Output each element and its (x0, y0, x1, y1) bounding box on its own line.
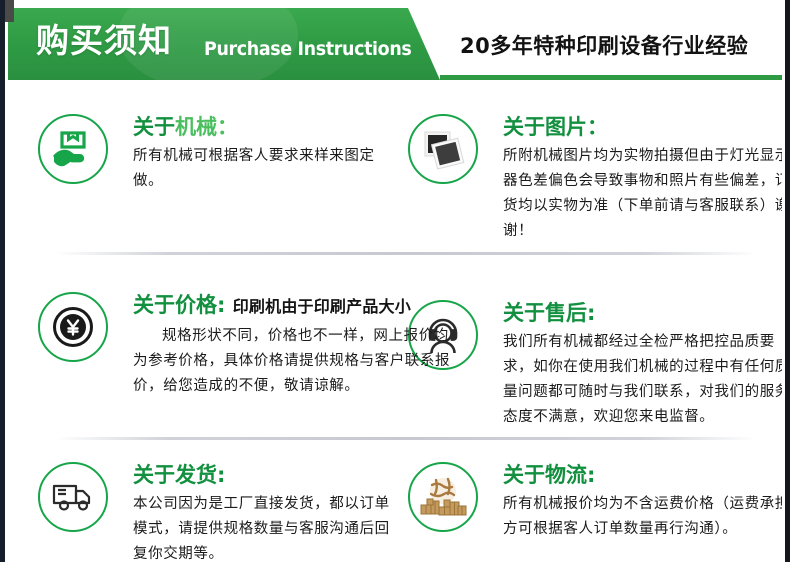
card-text: 所有机械报价均为不含运费价格（运费承担方可根据客人订单数量再行沟通）。 (503, 492, 790, 542)
card-body: 关于机械： 所有机械可根据客人要求来样来图定做。 (133, 114, 403, 194)
card-title: 关于发货: (133, 462, 403, 488)
card-body: 关于物流: 所有机械报价均为不含运费价格（运费承担方可根据客人订单数量再行沟通）… (503, 462, 790, 542)
card-text-value: 规格形状不同，价格也不一样，网上报价均为参考价格，具体价格请提供规格与客户联系报… (133, 328, 450, 394)
purchase-instructions-page: 购买须知 Purchase Instructions 20多年特种印刷设备行业经… (0, 0, 790, 562)
page-right-inner (782, 0, 785, 562)
card-text: 本公司因为是工厂直接发货，都以订单模式，请提供规格数量与客服沟通后回复你交期等。 (133, 492, 403, 562)
photos-icon (408, 114, 478, 184)
card-body: 关于价格: 印刷机由于印刷产品大小 规格形状不同，价格也不一样，网上报价均为参考… (133, 292, 453, 399)
card-title-prefix: 关于图片： (503, 115, 608, 139)
section-divider (56, 437, 756, 440)
page-left-inner (5, 0, 8, 562)
section-divider (56, 252, 756, 255)
card-text: 规格形状不同，价格也不一样，网上报价均为参考价格，具体价格请提供规格与客户联系报… (133, 324, 453, 399)
card-title: 关于图片： (503, 114, 790, 140)
card-title: 关于售后: (503, 300, 790, 326)
card-title: 关于价格: 印刷机由于印刷产品大小 (133, 292, 453, 320)
card-text: 所附机械图片均为实物拍摄但由于灯光显示器色差偏色会导致事物和照片有些偏差，订货均… (503, 144, 790, 244)
card-body: 关于售后: 我们所有机械都经过全检严格把控品质要求，如你在使用我们机械的过程中有… (503, 300, 790, 430)
card-title-keyword: 机械： (175, 115, 238, 139)
card-body: 关于发货: 本公司因为是工厂直接发货，都以订单模式，请提供规格数量与客服沟通后回… (133, 462, 403, 562)
card-title-prefix: 关于发货: (133, 463, 225, 487)
page-title: 购买须知 (36, 21, 172, 61)
card-title: 关于机械： (133, 114, 403, 140)
card-title-note: 印刷机由于印刷产品大小 (233, 297, 411, 316)
card-title: 关于物流: (503, 462, 790, 488)
page-header: 购买须知 Purchase Instructions 20多年特种印刷设备行业经… (8, 8, 782, 86)
card-title-prefix: 关于 (133, 115, 175, 139)
card-title-prefix: 关于价格: (133, 293, 225, 317)
header-underline-stripe (440, 75, 782, 80)
content-area: 关于机械： 所有机械可根据客人要求来样来图定做。 关于图片： (8, 92, 782, 558)
card-body: 关于图片： 所附机械图片均为实物拍摄但由于灯光显示器色差偏色会导致事物和照片有些… (503, 114, 790, 244)
yuan-coin-icon (38, 292, 108, 362)
page-right-border (785, 0, 790, 562)
card-text: 所有机械可根据客人要求来样来图定做。 (133, 144, 403, 194)
card-title-prefix: 关于物流: (503, 463, 595, 487)
globe-boxes-icon (408, 462, 478, 532)
page-corner-mark (5, 0, 14, 22)
card-text: 我们所有机械都经过全检严格把控品质要求，如你在使用我们机械的过程中有任何质量问题… (503, 330, 790, 430)
header-slogan: 20多年特种印刷设备行业经验 (460, 30, 748, 60)
card-title-prefix: 关于售后: (503, 301, 595, 325)
page-title-english: Purchase Instructions (204, 38, 411, 60)
hand-package-icon (38, 114, 108, 184)
delivery-truck-icon (38, 462, 108, 532)
